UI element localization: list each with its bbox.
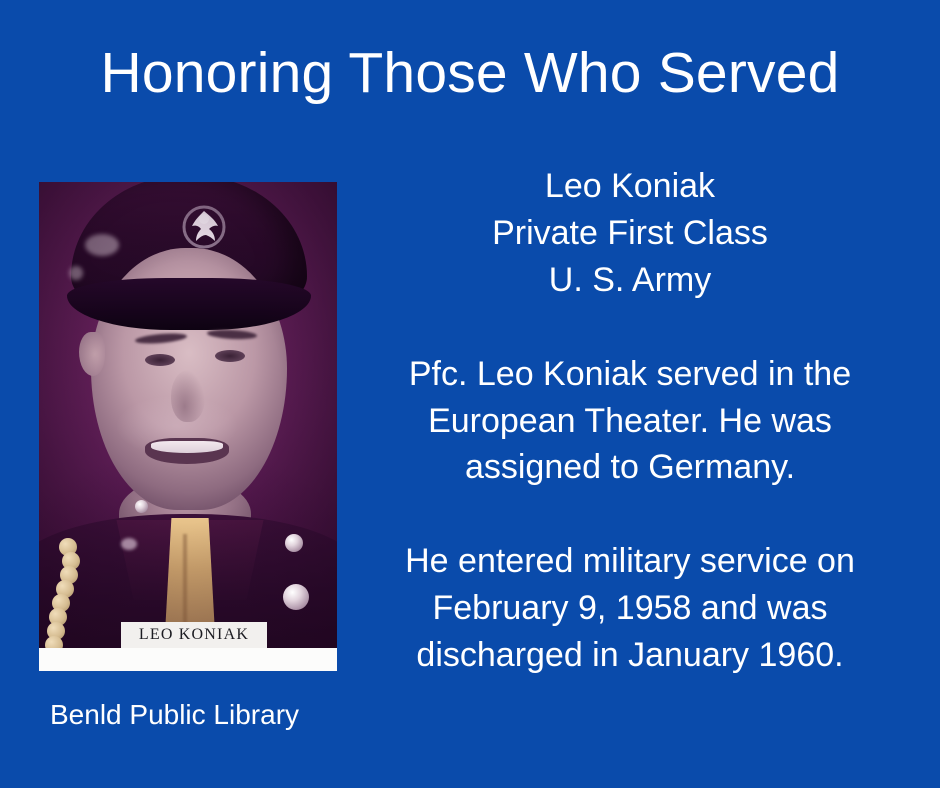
soldier-photo: LEO KONIAK	[39, 182, 337, 671]
uniform-button-shoulder	[135, 500, 148, 513]
mouth	[145, 438, 229, 464]
ear	[79, 332, 105, 376]
veteran-info: Leo Koniak Private First Class U. S. Arm…	[370, 163, 890, 679]
army-cap-eagle-insignia-icon	[181, 204, 227, 250]
photo-nameplate: LEO KONIAK	[121, 622, 267, 648]
identity-block: Leo Koniak Private First Class U. S. Arm…	[370, 163, 890, 304]
veteran-branch: U. S. Army	[370, 257, 890, 304]
service-p2-line3: discharged in January 1960.	[370, 632, 890, 679]
teeth	[151, 441, 223, 453]
service-paragraph-2: He entered military service on February …	[370, 538, 890, 679]
photo-image	[39, 182, 337, 648]
uniform-highlight	[121, 538, 137, 550]
uniform-button-lower	[283, 584, 309, 610]
veteran-name: Leo Koniak	[370, 163, 890, 210]
nameplate-label: LEO KONIAK	[139, 626, 249, 644]
service-p1-line1: Pfc. Leo Koniak served in the	[370, 351, 890, 398]
service-p1-line3: assigned to Germany.	[370, 444, 890, 491]
service-p2-line2: February 9, 1958 and was	[370, 585, 890, 632]
eye-right	[215, 350, 245, 362]
veteran-rank: Private First Class	[370, 210, 890, 257]
uniform-button-upper	[285, 534, 303, 552]
cap-highlight-secondary-icon	[69, 266, 83, 280]
service-p1-line2: European Theater. He was	[370, 398, 890, 445]
library-caption: Benld Public Library	[50, 698, 299, 732]
memorial-slide: Honoring Those Who Served	[0, 0, 940, 788]
service-paragraph-1: Pfc. Leo Koniak served in the European T…	[370, 351, 890, 492]
cap-highlight-icon	[85, 234, 119, 256]
nose	[171, 370, 205, 422]
page-title: Honoring Those Who Served	[0, 44, 940, 104]
eye-left	[145, 354, 175, 366]
photo-white-band	[39, 648, 337, 671]
service-p2-line1: He entered military service on	[370, 538, 890, 585]
aiguillette-cord	[43, 538, 83, 648]
